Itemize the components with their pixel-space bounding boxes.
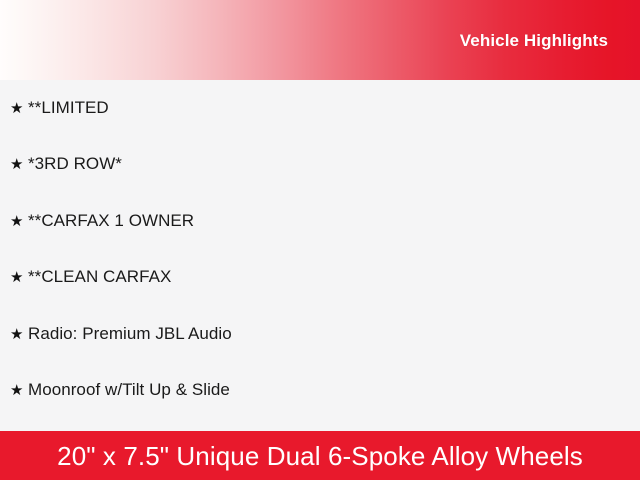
highlights-list: ★ **LIMITED ★ *3RD ROW* ★ **CARFAX 1 OWN… — [0, 99, 640, 437]
page-title: Vehicle Highlights — [460, 31, 640, 51]
list-item-label: *3RD ROW* — [28, 155, 122, 172]
star-icon: ★ — [10, 157, 28, 172]
list-item-label: **LIMITED — [28, 99, 109, 116]
footer-banner: 20" x 7.5" Unique Dual 6-Spoke Alloy Whe… — [0, 431, 640, 480]
star-icon: ★ — [10, 383, 28, 398]
list-item: ★ *3RD ROW* — [0, 155, 640, 211]
list-item: ★ **CARFAX 1 OWNER — [0, 212, 640, 268]
list-item: ★ **LIMITED — [0, 99, 640, 155]
list-item-label: Moonroof w/Tilt Up & Slide — [28, 381, 230, 398]
list-item-label: Radio: Premium JBL Audio — [28, 325, 232, 342]
vehicle-highlights-card: Vehicle Highlights ★ **LIMITED ★ *3RD RO… — [0, 0, 640, 480]
header-banner: Vehicle Highlights — [0, 0, 640, 80]
list-item: ★ **CLEAN CARFAX — [0, 268, 640, 324]
star-icon: ★ — [10, 327, 28, 342]
list-item-label: **CLEAN CARFAX — [28, 268, 171, 285]
list-item: ★ Moonroof w/Tilt Up & Slide — [0, 381, 640, 437]
list-item-label: **CARFAX 1 OWNER — [28, 212, 194, 229]
star-icon: ★ — [10, 101, 28, 116]
list-item: ★ Radio: Premium JBL Audio — [0, 325, 640, 381]
highlights-section: ★ **LIMITED ★ *3RD ROW* ★ **CARFAX 1 OWN… — [0, 80, 640, 431]
star-icon: ★ — [10, 270, 28, 285]
footer-headline: 20" x 7.5" Unique Dual 6-Spoke Alloy Whe… — [57, 443, 583, 469]
star-icon: ★ — [10, 214, 28, 229]
